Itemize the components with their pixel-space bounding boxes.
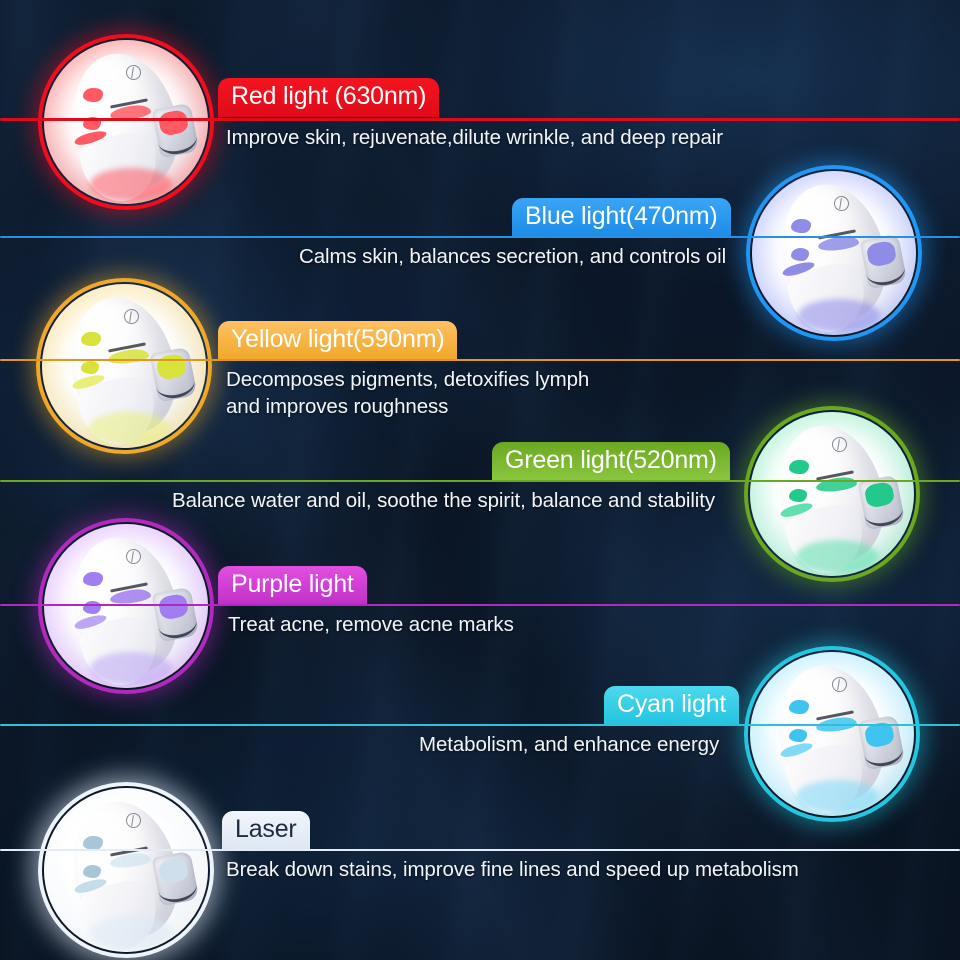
mask-photo-yellow <box>42 284 206 448</box>
mode-divider-purple <box>0 604 960 606</box>
mode-description-blue: Calms skin, balances secretion, and cont… <box>299 243 726 270</box>
mode-badge-red[interactable]: Red light (630nm) <box>218 78 439 117</box>
mask-image-blue <box>746 165 922 341</box>
mask-image-cyan <box>744 646 920 822</box>
mode-description-yellow: Decomposes pigments, detoxifies lymph an… <box>226 366 589 420</box>
mode-description-purple: Treat acne, remove acne marks <box>228 611 514 638</box>
mode-divider-yellow <box>0 359 960 361</box>
mask-image-green <box>744 406 920 582</box>
mode-divider-cyan <box>0 724 960 726</box>
mode-divider-blue <box>0 236 960 238</box>
mode-description-red: Improve skin, rejuvenate,dilute wrinkle,… <box>226 124 723 151</box>
mask-photo-cyan <box>750 652 914 816</box>
mode-badge-blue[interactable]: Blue light(470nm) <box>512 198 731 237</box>
mask-photo-purple <box>44 524 208 688</box>
mode-description-laser: Break down stains, improve fine lines an… <box>226 856 799 883</box>
mode-badge-cyan[interactable]: Cyan light <box>604 686 739 725</box>
mode-badge-purple[interactable]: Purple light <box>218 566 367 605</box>
mask-image-yellow <box>36 278 212 454</box>
mask-photo-blue <box>752 171 916 335</box>
infographic-page: Red light (630nm) Improve skin, rejuvena… <box>0 0 960 960</box>
mask-photo-laser <box>44 788 208 952</box>
mask-image-purple <box>38 518 214 694</box>
mask-image-laser <box>38 782 214 958</box>
mask-image-red <box>38 34 214 210</box>
mode-badge-yellow[interactable]: Yellow light(590nm) <box>218 321 457 360</box>
mode-description-green: Balance water and oil, soothe the spirit… <box>172 487 715 514</box>
mask-photo-green <box>750 412 914 576</box>
mode-description-cyan: Metabolism, and enhance energy <box>419 731 719 758</box>
mode-divider-laser <box>0 849 960 851</box>
mask-photo-red <box>44 40 208 204</box>
mode-badge-laser[interactable]: Laser <box>222 811 310 850</box>
mode-divider-green <box>0 480 960 482</box>
mode-badge-green[interactable]: Green light(520nm) <box>492 442 730 481</box>
mode-divider-red <box>0 118 960 121</box>
